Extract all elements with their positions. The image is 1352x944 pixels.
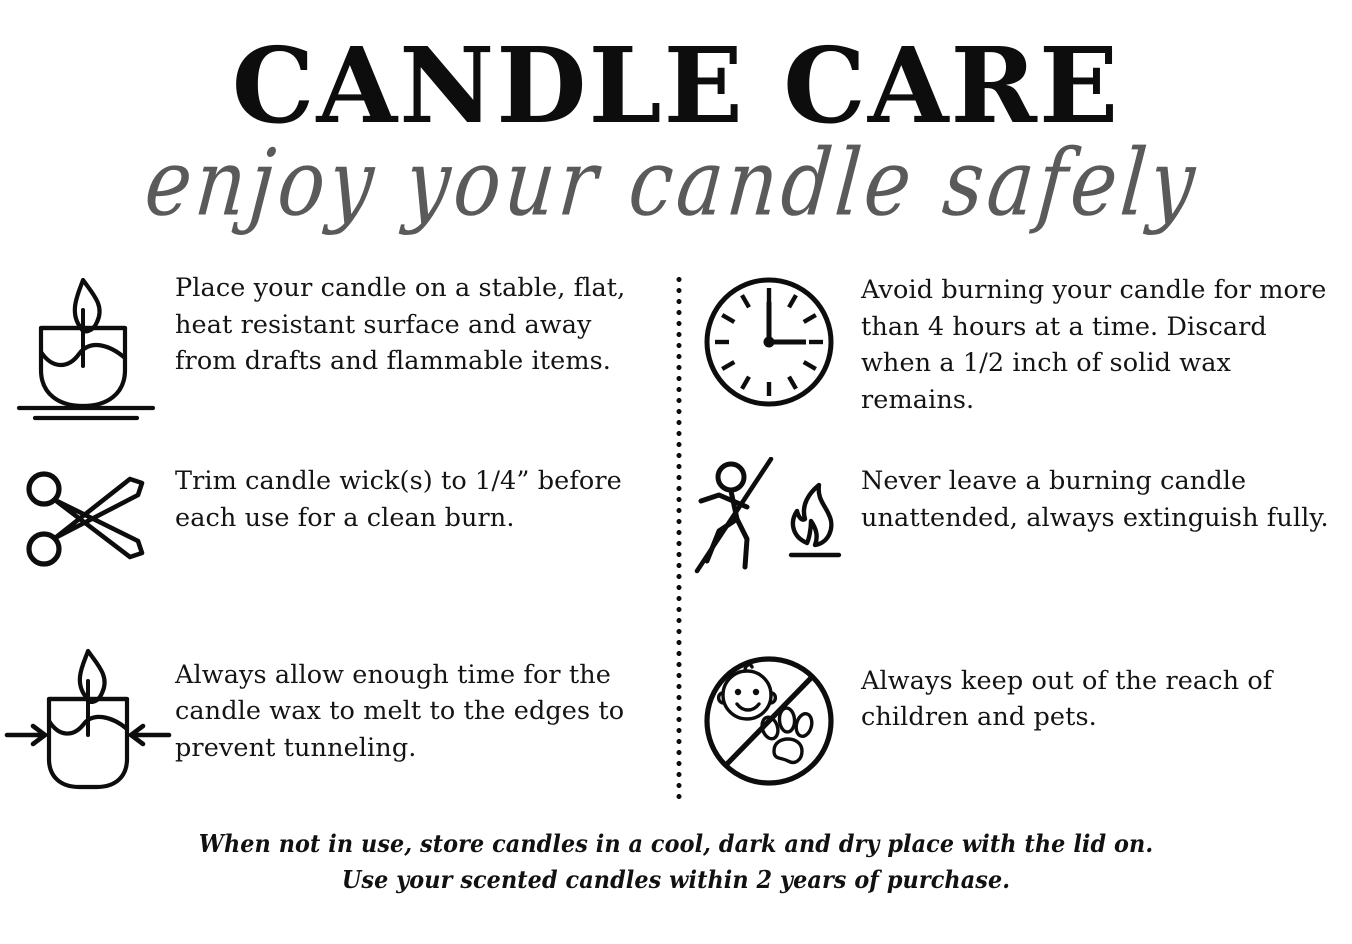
clock-icon xyxy=(676,262,861,412)
candle-care-card: CANDLE CARE enjoy your candle safely xyxy=(0,0,1352,944)
tips-column-left: Place your candle on a stable, flat, hea… xyxy=(0,262,676,812)
tip-item: Never leave a burning candle unattended,… xyxy=(676,445,1352,628)
tip-text: Avoid burning your candle for more than … xyxy=(861,262,1352,418)
footer-line-1: When not in use, store candles in a cool… xyxy=(47,826,1304,862)
header: CANDLE CARE enjoy your candle safely xyxy=(0,0,1352,262)
footer-line-2: Use your scented candles within 2 years … xyxy=(47,862,1304,898)
page-title: CANDLE CARE xyxy=(0,34,1352,138)
tip-item: Place your candle on a stable, flat, hea… xyxy=(0,262,676,445)
tip-item: Avoid burning your candle for more than … xyxy=(676,262,1352,445)
candle-on-flat-surface-icon xyxy=(0,262,175,426)
no-children-pets-icon xyxy=(676,629,861,791)
tip-item: Always allow enough time for the candle … xyxy=(0,629,676,812)
tip-text: Place your candle on a stable, flat, hea… xyxy=(175,262,676,380)
scissors-icon xyxy=(0,445,175,581)
tips-column-right: Avoid burning your candle for more than … xyxy=(676,262,1352,812)
footer: When not in use, store candles in a cool… xyxy=(0,826,1352,898)
tip-text: Always keep out of the reach of children… xyxy=(861,629,1352,736)
person-leaving-fire-icon xyxy=(676,445,861,577)
tips-grid: Place your candle on a stable, flat, hea… xyxy=(0,262,1352,812)
tip-text: Always allow enough time for the candle … xyxy=(175,629,676,767)
tip-text: Never leave a burning candle unattended,… xyxy=(861,445,1352,536)
tip-text: Trim candle wick(s) to 1/4” before each … xyxy=(175,445,676,536)
tip-item: Trim candle wick(s) to 1/4” before each … xyxy=(0,445,676,628)
tip-item: Always keep out of the reach of children… xyxy=(676,629,1352,812)
page-subtitle: enjoy your candle safely xyxy=(0,138,1352,230)
candle-melt-to-edges-icon xyxy=(0,629,175,797)
